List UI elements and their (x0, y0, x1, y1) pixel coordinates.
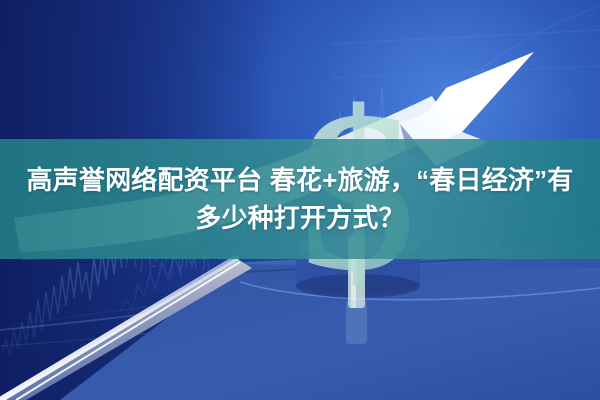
banner-image: $ 高声誉网络配资平台 春花+旅游，“春日经济”有 多少种打开方式？ (0, 0, 600, 400)
headline-text: 高声誉网络配资平台 春花+旅游，“春日经济”有 多少种打开方式？ (0, 139, 600, 259)
headline-line-1: 高声誉网络配资平台 春花+旅游，“春日经济”有 (20, 163, 579, 197)
headline-line-2: 多少种打开方式？ (195, 201, 405, 235)
